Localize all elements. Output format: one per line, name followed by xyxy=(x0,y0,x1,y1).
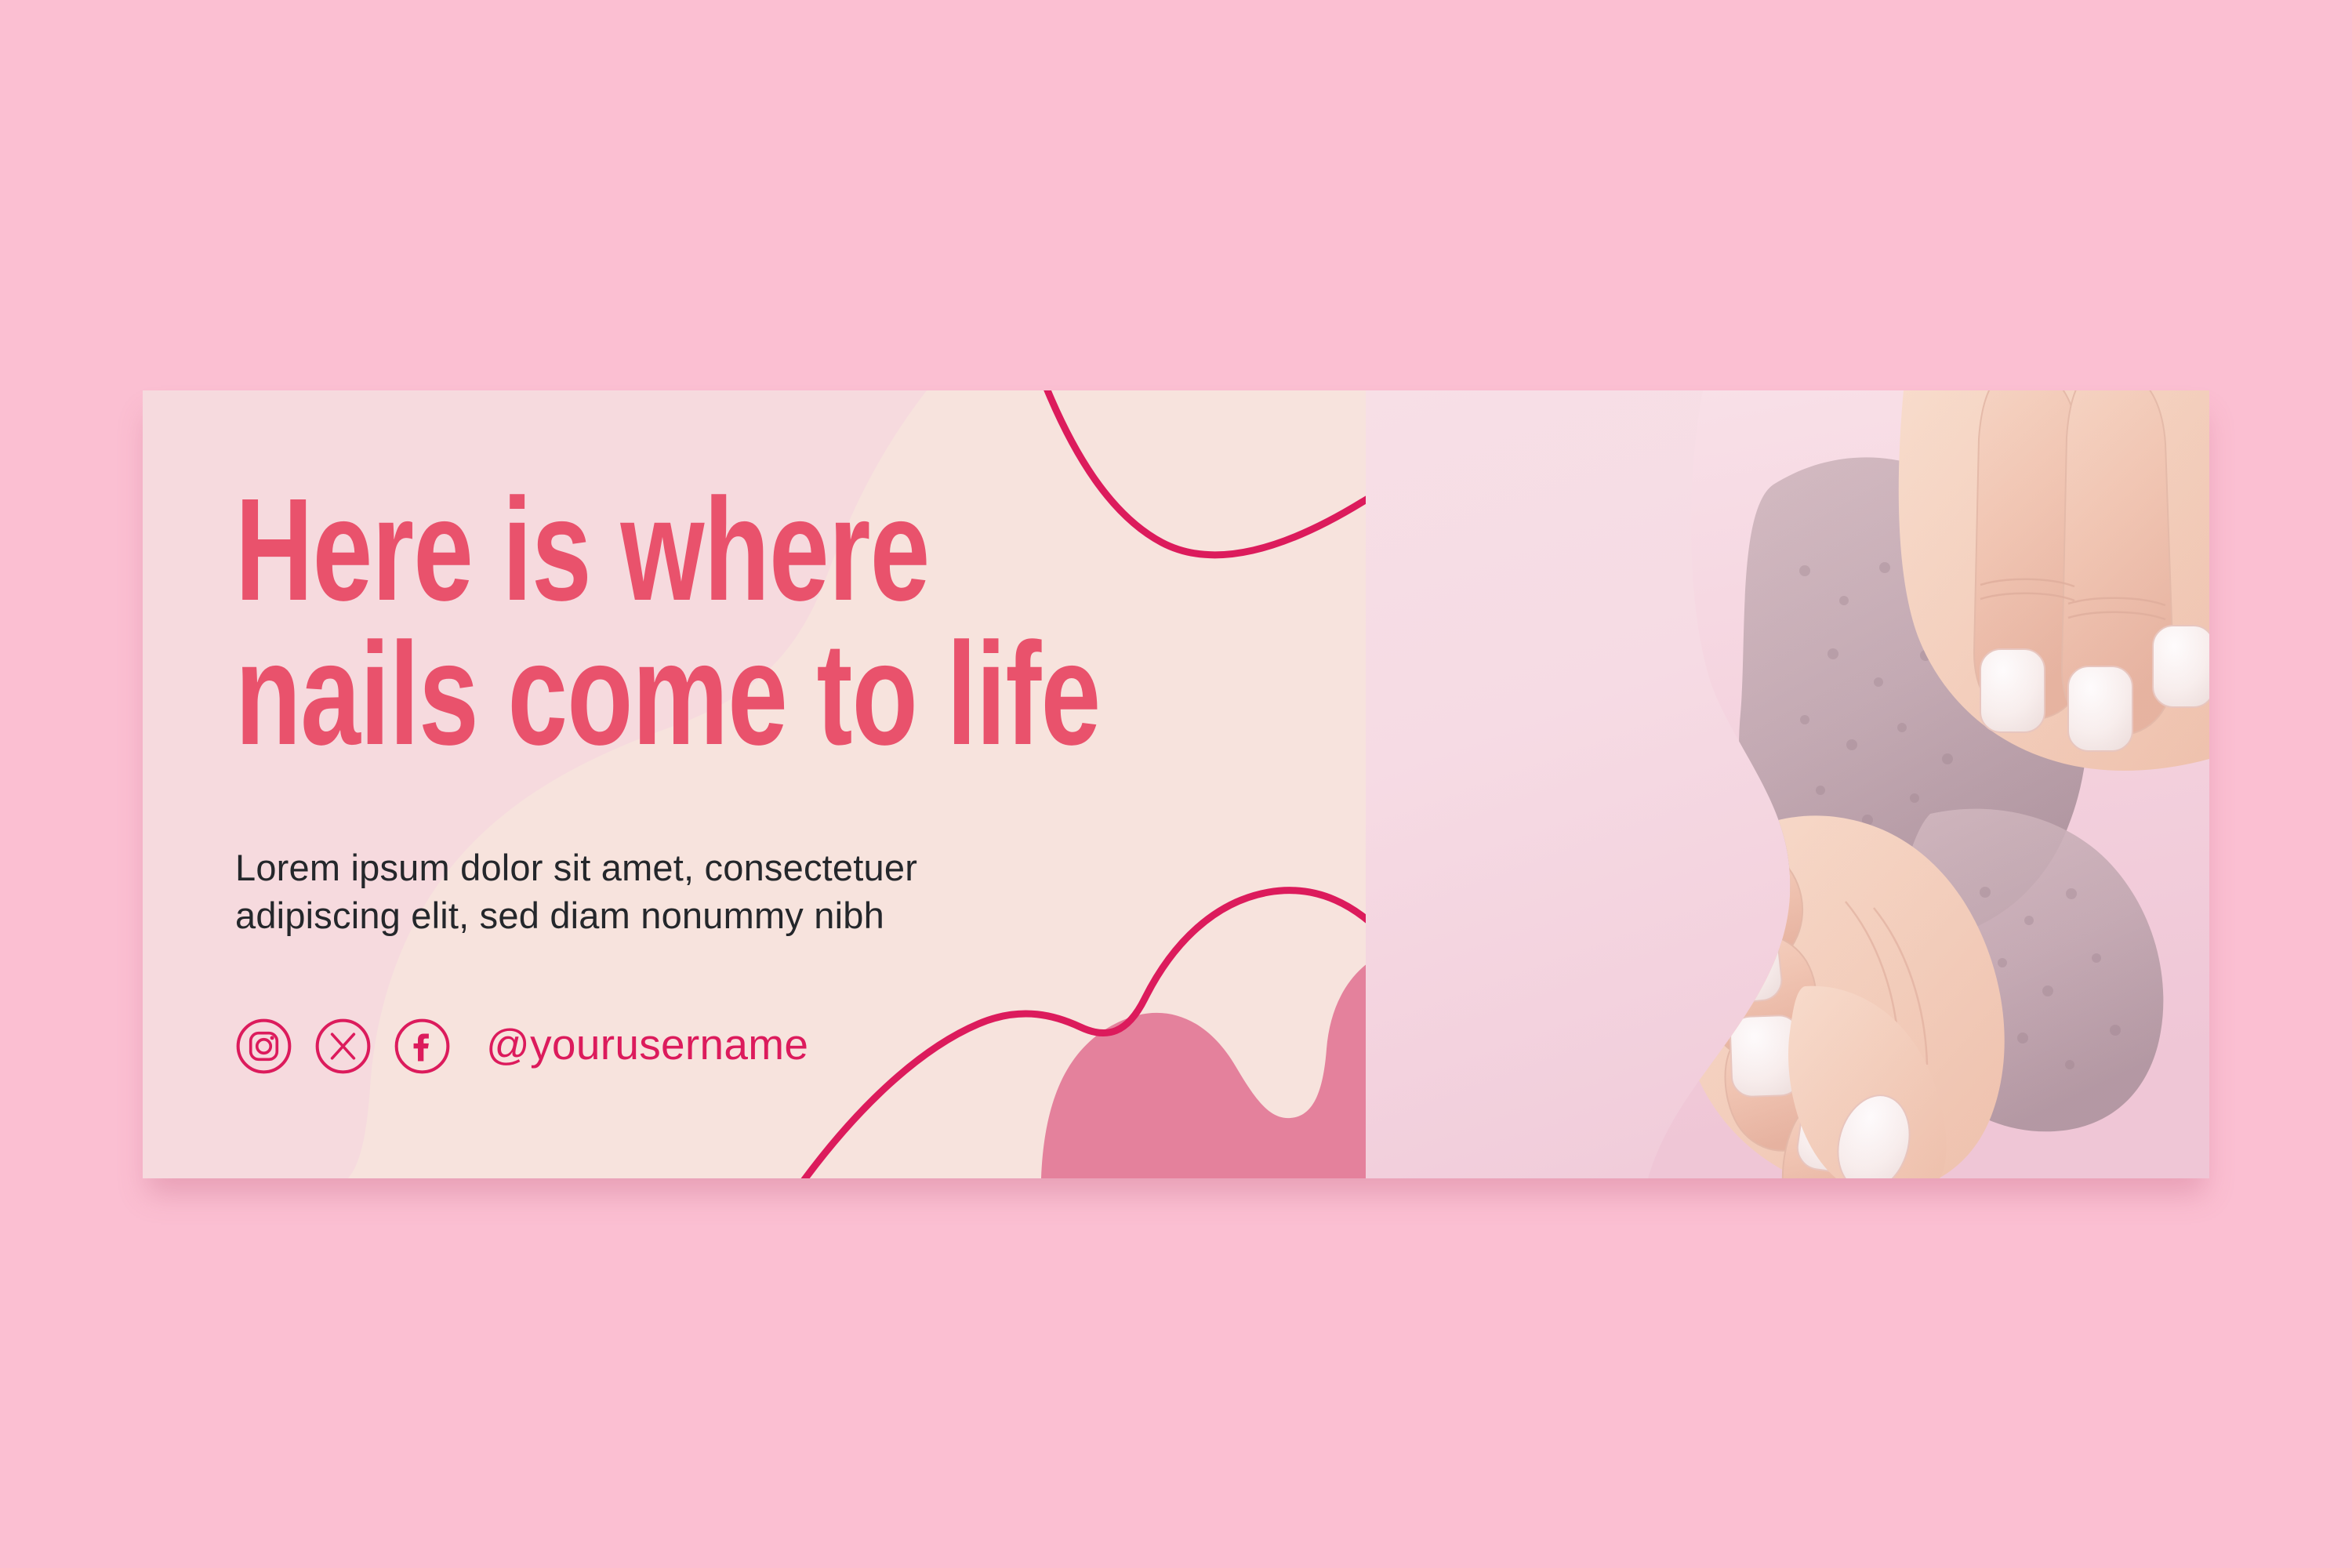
banner-text-column: Here is where nails come to life Lorem i… xyxy=(235,390,1348,1178)
social-media-banner-card: Here is where nails come to life Lorem i… xyxy=(143,390,2209,1178)
x-twitter-icon[interactable] xyxy=(314,1018,372,1075)
banner-subtitle: Lorem ipsum dolor sit amet, consectetuer… xyxy=(235,844,1160,939)
page-title: Here is where nails come to life xyxy=(235,478,1047,767)
subtitle-line-1: Lorem ipsum dolor sit amet, consectetuer xyxy=(235,844,1160,891)
page-canvas: Here is where nails come to life Lorem i… xyxy=(0,0,2352,1568)
instagram-icon[interactable] xyxy=(235,1018,292,1075)
headline-line-1: Here is where xyxy=(235,478,1047,622)
subtitle-line-2: adipiscing elit, sed diam nonummy nibh xyxy=(235,891,1160,939)
social-links-row: @yourusername xyxy=(235,1018,808,1075)
manicured-hands-photo xyxy=(1366,390,2209,1178)
social-handle[interactable]: @yourusername xyxy=(486,1023,808,1069)
photo-content xyxy=(1366,390,2209,1178)
facebook-icon[interactable] xyxy=(394,1018,451,1075)
photo-svg xyxy=(1366,390,2209,1178)
headline-line-2: nails come to life xyxy=(235,622,1047,767)
photo-illustration xyxy=(1366,390,2209,1178)
